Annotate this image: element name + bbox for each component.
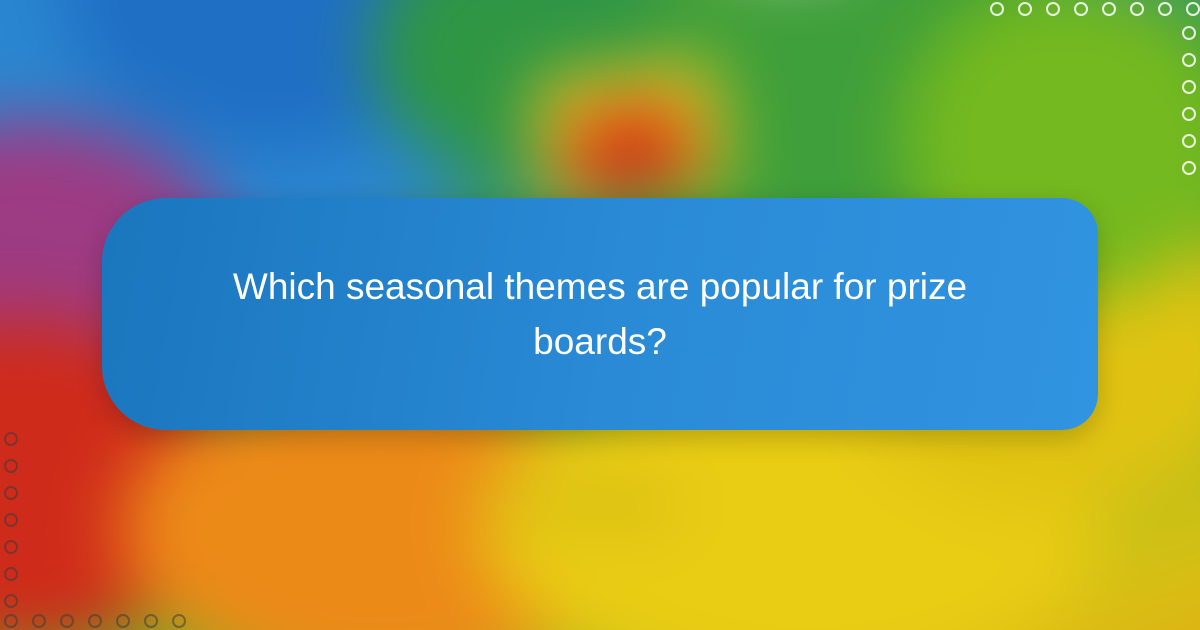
circle-outline-icon bbox=[1182, 161, 1196, 175]
circle-outline-icon bbox=[4, 486, 18, 500]
circle-outline-icon bbox=[4, 432, 18, 446]
dot-column-left bbox=[4, 432, 18, 608]
circle-outline-icon bbox=[172, 614, 186, 628]
circle-outline-icon bbox=[88, 614, 102, 628]
circle-outline-icon bbox=[1102, 2, 1116, 16]
dot-row-bottom-left bbox=[4, 614, 186, 628]
circle-outline-icon bbox=[116, 614, 130, 628]
circle-outline-icon bbox=[60, 614, 74, 628]
circle-outline-icon bbox=[32, 614, 46, 628]
dot-column-right bbox=[1182, 26, 1196, 175]
circle-outline-icon bbox=[4, 614, 18, 628]
circle-outline-icon bbox=[144, 614, 158, 628]
circle-outline-icon bbox=[990, 2, 1004, 16]
circle-outline-icon bbox=[1158, 2, 1172, 16]
dot-row-top-right bbox=[990, 2, 1200, 16]
screenshot-canvas: Top 10 candy Wh bbox=[0, 0, 1200, 630]
circle-outline-icon bbox=[1018, 2, 1032, 16]
circle-outline-icon bbox=[1182, 26, 1196, 40]
circle-outline-icon bbox=[1046, 2, 1060, 16]
circle-outline-icon bbox=[4, 540, 18, 554]
circle-outline-icon bbox=[4, 513, 18, 527]
circle-outline-icon bbox=[4, 459, 18, 473]
circle-outline-icon bbox=[1186, 2, 1200, 16]
question-text: Which seasonal themes are popular for pr… bbox=[212, 259, 988, 370]
question-card: Which seasonal themes are popular for pr… bbox=[102, 198, 1098, 430]
circle-outline-icon bbox=[4, 567, 18, 581]
circle-outline-icon bbox=[4, 594, 18, 608]
circle-outline-icon bbox=[1182, 107, 1196, 121]
background-caption: Top 10 candy bbox=[500, 488, 670, 519]
circle-outline-icon bbox=[1182, 80, 1196, 94]
circle-outline-icon bbox=[1074, 2, 1088, 16]
circle-outline-icon bbox=[1130, 2, 1144, 16]
circle-outline-icon bbox=[1182, 134, 1196, 148]
circle-outline-icon bbox=[1182, 53, 1196, 67]
